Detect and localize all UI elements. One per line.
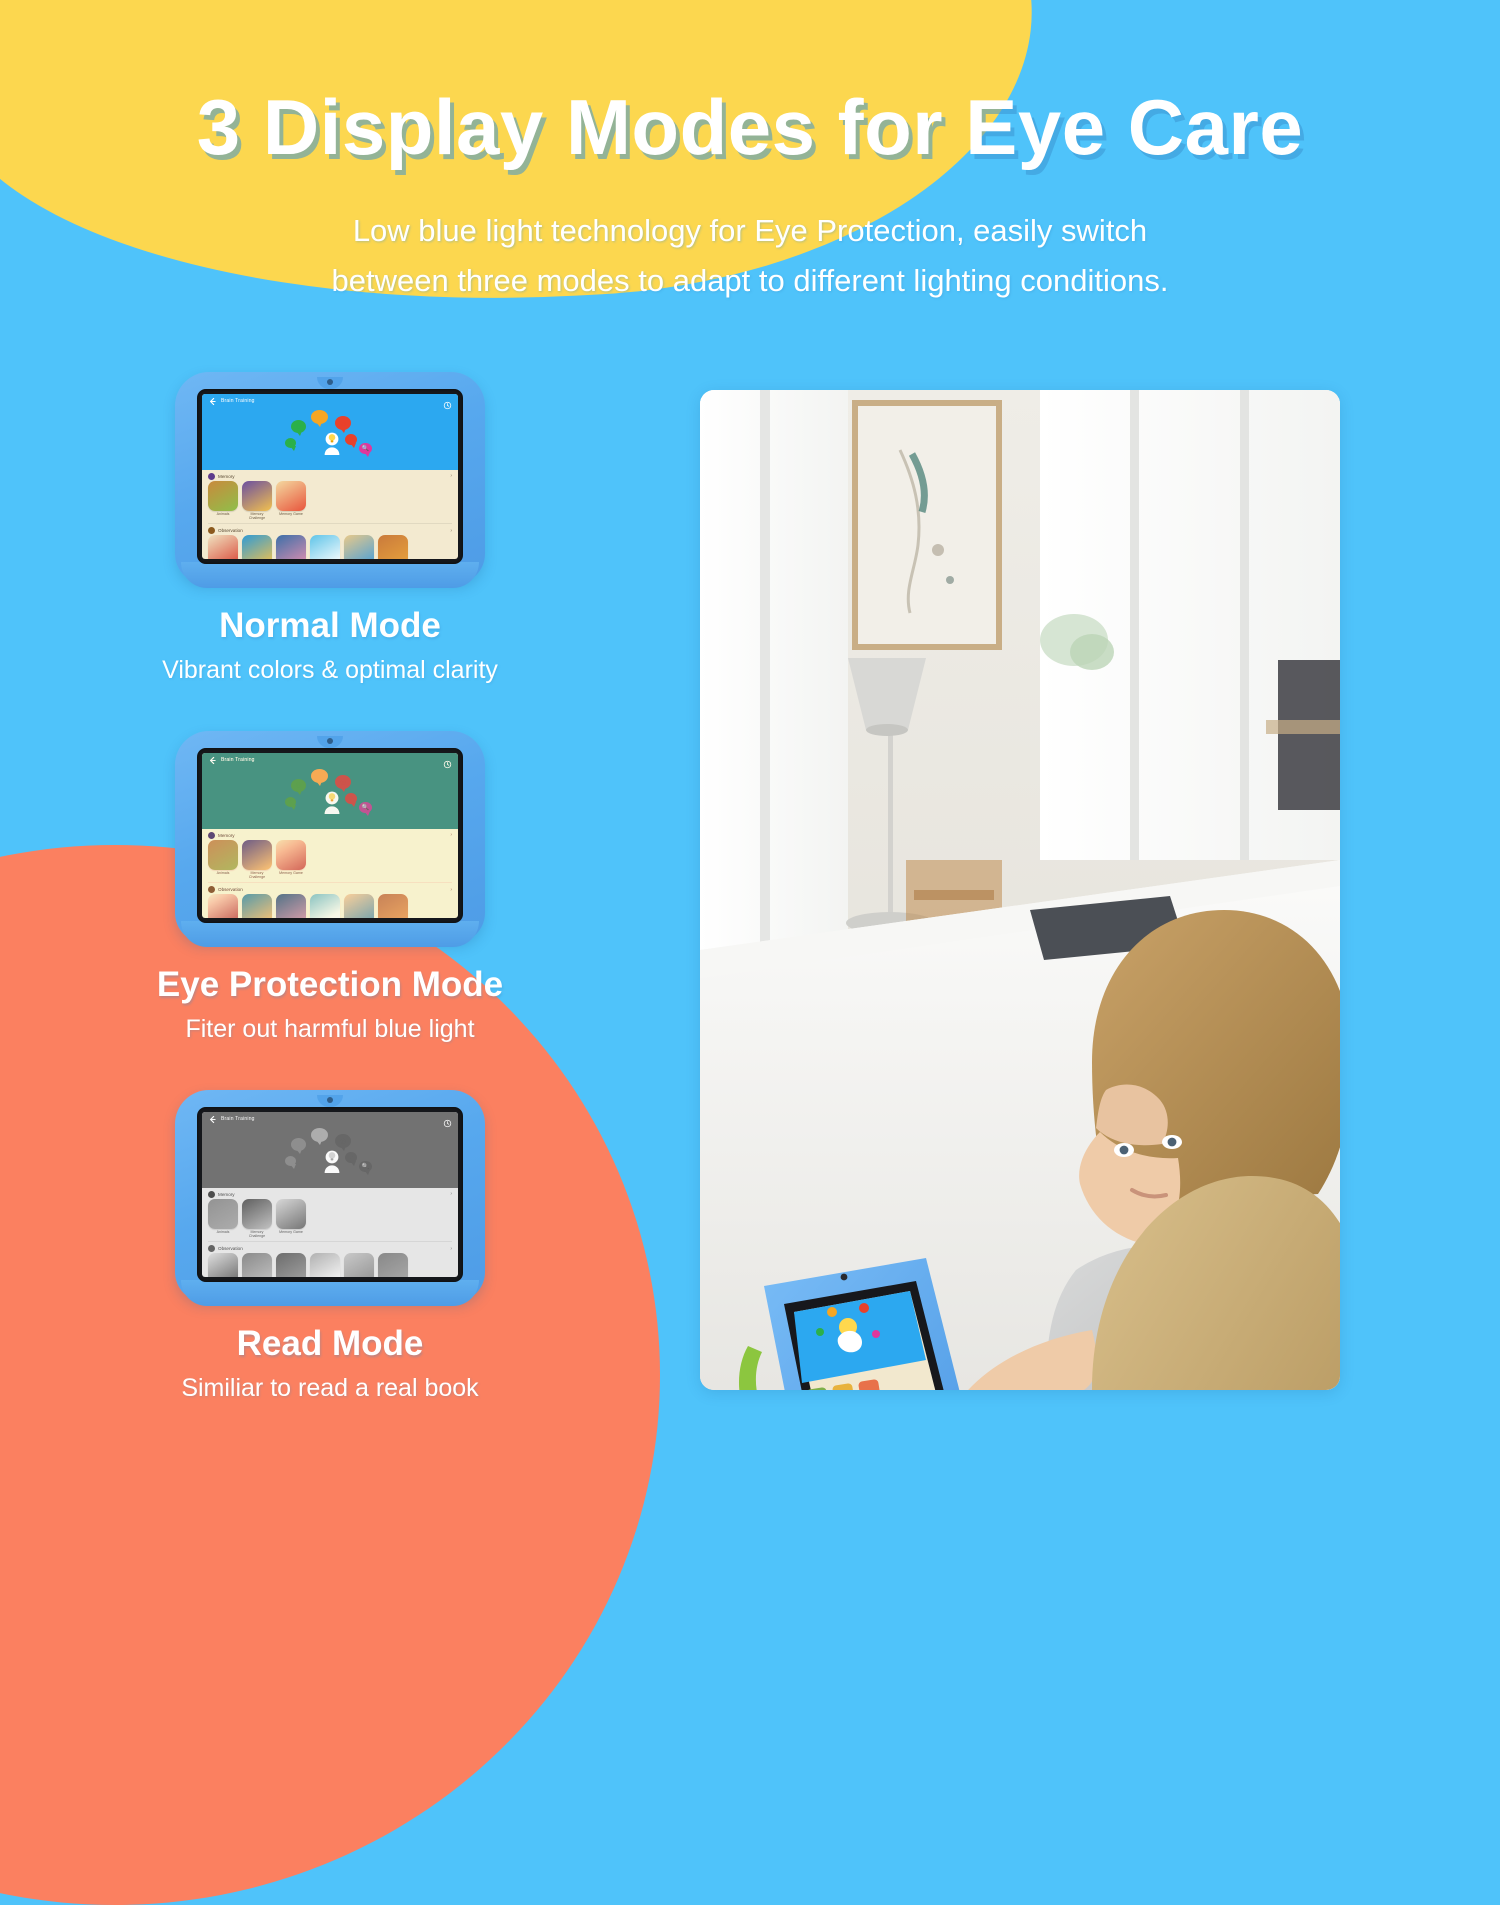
head-lightbulb-idea-icon: [321, 1148, 343, 1174]
chevron-right-icon[interactable]: ›: [450, 528, 452, 534]
app-tile-icon[interactable]: [378, 535, 408, 559]
app-tile-icon[interactable]: [344, 535, 374, 559]
category-header-memory[interactable]: Memory ›: [202, 829, 458, 840]
target-green-icon: ◎: [291, 420, 306, 433]
chevron-right-icon[interactable]: ›: [450, 887, 452, 893]
mode-name-normal: Normal Mode: [0, 606, 660, 646]
gears-orange-icon: ⚙: [311, 769, 328, 783]
app-tile-icon[interactable]: [242, 481, 272, 511]
app-tile-icon[interactable]: [242, 840, 272, 870]
tile-row-memory: Animals Memory Challenge Memory Game: [202, 1199, 458, 1238]
category-label: Observation: [218, 1246, 243, 1251]
chevron-right-icon[interactable]: ›: [450, 832, 452, 838]
lifestyle-photo: [700, 390, 1340, 1390]
target-red-icon: ◎: [335, 1134, 351, 1148]
app-tile-label: Memory Game: [276, 871, 306, 875]
heart-red-icon: ♥: [345, 434, 357, 445]
gears-orange-icon: ⚙: [311, 410, 328, 424]
history-clock-icon[interactable]: [443, 756, 452, 765]
magnifier-magenta-icon: 🔍: [359, 1161, 372, 1172]
app-tile-icon[interactable]: [344, 894, 374, 918]
app-tile-item[interactable]: Animals: [208, 1199, 238, 1238]
tablet-screen-read[interactable]: Brain Training ◎ ⚙ ◎ ✆ ♥: [202, 1112, 458, 1277]
mode-description-eye-protection: Fiter out harmful blue light: [0, 1015, 660, 1044]
app-tile-item[interactable]: Animals: [208, 840, 238, 879]
category-header-observation[interactable]: Observation ›: [202, 524, 458, 535]
app-tile-icon[interactable]: [242, 1253, 272, 1277]
app-tile-icon[interactable]: [208, 535, 238, 559]
app-tile-item[interactable]: Memory Challenge: [242, 840, 272, 879]
camera-lens-icon: [327, 738, 333, 744]
tile-row-observation: [202, 1253, 458, 1277]
app-tile-icon[interactable]: [276, 1199, 306, 1229]
tablet-bezel: Brain Training ◎ ⚙ ◎ ✆ ♥: [197, 748, 463, 923]
page-title: 3 Display Modes for Eye Care: [0, 0, 1500, 166]
app-tile-icon[interactable]: [378, 894, 408, 918]
app-tile-icon[interactable]: [242, 535, 272, 559]
target-green-icon: ◎: [291, 1138, 306, 1151]
app-tile-icon[interactable]: [242, 1199, 272, 1229]
arrow-left-icon[interactable]: [208, 756, 217, 765]
tablet-screen-normal[interactable]: Brain Training ◎ ⚙ ◎ ✆ ♥: [202, 394, 458, 559]
mode-card-normal: Brain Training ◎ ⚙ ◎ ✆ ♥: [0, 372, 660, 685]
app-tile-icon[interactable]: [208, 1199, 238, 1229]
tablet-device-normal: Brain Training ◎ ⚙ ◎ ✆ ♥: [175, 372, 485, 584]
chevron-right-icon[interactable]: ›: [450, 1191, 452, 1197]
magnifier-magenta-icon: 🔍: [359, 802, 372, 813]
chat-green-icon: ✆: [285, 1156, 296, 1166]
app-tile-icon[interactable]: [276, 535, 306, 559]
app-bar-title: Brain Training: [221, 398, 255, 404]
category-dot-icon: [208, 886, 215, 893]
category-header-observation[interactable]: Observation ›: [202, 1242, 458, 1253]
display-modes-list: Brain Training ◎ ⚙ ◎ ✆ ♥: [0, 372, 660, 1403]
tablet-bezel: Brain Training ◎ ⚙ ◎ ✆ ♥: [197, 1107, 463, 1282]
app-tile-icon[interactable]: [208, 894, 238, 918]
app-tile-icon[interactable]: [344, 1253, 374, 1277]
category-label: Observation: [218, 887, 243, 892]
heart-red-icon: ♥: [345, 793, 357, 804]
gears-orange-icon: ⚙: [311, 1128, 328, 1142]
app-tile-icon[interactable]: [310, 535, 340, 559]
category-dot-icon: [208, 473, 215, 480]
category-header-observation[interactable]: Observation ›: [202, 883, 458, 894]
subtitle-line-1: Low blue light technology for Eye Protec…: [0, 206, 1500, 256]
app-tile-icon[interactable]: [276, 481, 306, 511]
camera-lens-icon: [327, 379, 333, 385]
app-tile-label: Memory Challenge: [242, 512, 272, 520]
target-red-icon: ◎: [335, 775, 351, 789]
chevron-right-icon[interactable]: ›: [450, 1246, 452, 1252]
mode-card-read: Brain Training ◎ ⚙ ◎ ✆ ♥: [0, 1090, 660, 1403]
target-green-icon: ◎: [291, 779, 306, 792]
magnifier-magenta-icon: 🔍: [359, 443, 372, 454]
category-dot-icon: [208, 832, 215, 839]
mode-card-eye-protection: Brain Training ◎ ⚙ ◎ ✆ ♥: [0, 731, 660, 1044]
app-tile-label: Memory Game: [276, 1230, 306, 1234]
app-tile-icon[interactable]: [310, 894, 340, 918]
app-tile-icon[interactable]: [378, 1253, 408, 1277]
app-bar: Brain Training: [202, 753, 458, 767]
mode-description-read: Similiar to read a real book: [0, 1374, 660, 1403]
history-clock-icon[interactable]: [443, 397, 452, 406]
subtitle-line-2: between three modes to adapt to differen…: [0, 256, 1500, 306]
arrow-left-icon[interactable]: [208, 397, 217, 406]
chat-green-icon: ✆: [285, 438, 296, 448]
app-tile-item[interactable]: Memory Challenge: [242, 481, 272, 520]
tablet-screen-eye-protection[interactable]: Brain Training ◎ ⚙ ◎ ✆ ♥: [202, 753, 458, 918]
category-label: Memory: [218, 474, 235, 479]
app-tile-label: Animals: [208, 871, 238, 875]
screen-hero-area: Brain Training ◎ ⚙ ◎ ✆ ♥: [202, 394, 458, 470]
hero-illustration: ◎ ⚙ ◎ ✆ ♥ 🔍: [202, 766, 458, 829]
header: 3 Display Modes for Eye Care Low blue li…: [0, 0, 1500, 306]
app-tile-label: Animals: [208, 512, 238, 516]
category-label: Memory: [218, 833, 235, 838]
tile-row-memory: Animals Memory Challenge Memory Game: [202, 840, 458, 879]
chevron-right-icon[interactable]: ›: [450, 473, 452, 479]
app-tile-item[interactable]: Memory Game: [276, 840, 306, 879]
app-bar-title: Brain Training: [221, 1116, 255, 1122]
app-tile-icon[interactable]: [208, 840, 238, 870]
app-tile-icon[interactable]: [208, 481, 238, 511]
app-tile-icon[interactable]: [276, 1253, 306, 1277]
app-tile-icon[interactable]: [208, 1253, 238, 1277]
app-tile-item[interactable]: Animals: [208, 481, 238, 520]
category-header-memory[interactable]: Memory ›: [202, 1188, 458, 1199]
tablet-device-read: Brain Training ◎ ⚙ ◎ ✆ ♥: [175, 1090, 485, 1302]
history-clock-icon[interactable]: [443, 1115, 452, 1124]
screen-hero-area: Brain Training ◎ ⚙ ◎ ✆ ♥: [202, 753, 458, 829]
app-tile-label: Memory Challenge: [242, 871, 272, 879]
mode-name-read: Read Mode: [0, 1324, 660, 1364]
chat-green-icon: ✆: [285, 797, 296, 807]
heart-red-icon: ♥: [345, 1152, 357, 1163]
hero-illustration: ◎ ⚙ ◎ ✆ ♥ 🔍: [202, 407, 458, 470]
app-bar: Brain Training: [202, 394, 458, 408]
app-tile-label: Memory Game: [276, 512, 306, 516]
photo-illustration: [700, 390, 1340, 1390]
mode-description-normal: Vibrant colors & optimal clarity: [0, 656, 660, 685]
head-lightbulb-idea-icon: [321, 430, 343, 456]
tablet-device-eye-protection: Brain Training ◎ ⚙ ◎ ✆ ♥: [175, 731, 485, 943]
target-red-icon: ◎: [335, 416, 351, 430]
screen-hero-area: Brain Training ◎ ⚙ ◎ ✆ ♥: [202, 1112, 458, 1188]
mode-name-eye-protection: Eye Protection Mode: [0, 965, 660, 1005]
head-lightbulb-idea-icon: [321, 789, 343, 815]
app-tile-label: Memory Challenge: [242, 1230, 272, 1238]
app-bar-title: Brain Training: [221, 757, 255, 763]
tile-row-observation: [202, 535, 458, 559]
category-header-memory[interactable]: Memory ›: [202, 470, 458, 481]
tile-row-observation: [202, 894, 458, 918]
category-dot-icon: [208, 1245, 215, 1252]
app-tile-icon[interactable]: [276, 894, 306, 918]
app-tile-item[interactable]: Memory Game: [276, 481, 306, 520]
category-label: Observation: [218, 528, 243, 533]
tablet-bezel: Brain Training ◎ ⚙ ◎ ✆ ♥: [197, 389, 463, 564]
app-tile-item[interactable]: Memory Game: [276, 1199, 306, 1238]
app-tile-icon[interactable]: [242, 894, 272, 918]
page-subtitle: Low blue light technology for Eye Protec…: [0, 206, 1500, 306]
camera-lens-icon: [327, 1097, 333, 1103]
app-tile-label: Animals: [208, 1230, 238, 1234]
category-label: Memory: [218, 1192, 235, 1197]
app-tile-item[interactable]: Memory Challenge: [242, 1199, 272, 1238]
category-dot-icon: [208, 1191, 215, 1198]
app-tile-icon[interactable]: [276, 840, 306, 870]
tile-row-memory: Animals Memory Challenge Memory Game: [202, 481, 458, 520]
hero-illustration: ◎ ⚙ ◎ ✆ ♥ 🔍: [202, 1125, 458, 1188]
category-dot-icon: [208, 527, 215, 534]
arrow-left-icon[interactable]: [208, 1115, 217, 1124]
app-bar: Brain Training: [202, 1112, 458, 1126]
app-tile-icon[interactable]: [310, 1253, 340, 1277]
